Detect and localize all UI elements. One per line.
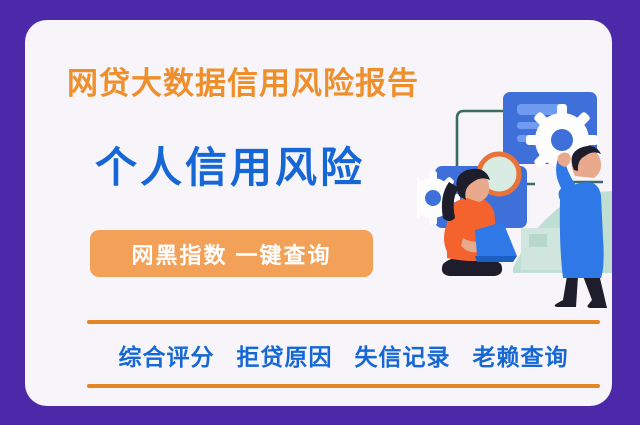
headline-text: 网贷大数据信用风险报告 — [67, 64, 419, 104]
query-cta-label: 网黑指数 一键查询 — [131, 238, 331, 270]
content-card: 网贷大数据信用风险报告 个人信用风险 网黑指数 一键查询 综合评分 拒贷原因 失… — [25, 20, 612, 406]
person-standing — [555, 146, 607, 308]
feature-item-0[interactable]: 综合评分 — [119, 338, 215, 372]
promo-banner: 网贷大数据信用风险报告 个人信用风险 网黑指数 一键查询 综合评分 拒贷原因 失… — [0, 0, 640, 425]
divider-top — [87, 320, 600, 324]
person-standing-leg-right — [583, 274, 607, 308]
query-cta-button[interactable]: 网黑指数 一键查询 — [90, 230, 373, 277]
feature-item-3[interactable]: 老赖查询 — [473, 338, 569, 372]
credit-report-illustration — [417, 78, 612, 310]
page-title: 个人信用风险 — [95, 142, 365, 194]
laptop-base — [475, 256, 517, 262]
divider-bottom — [87, 384, 600, 388]
person-standing-torso — [559, 182, 604, 278]
mint-block-accent — [529, 234, 547, 247]
feature-list: 综合评分 拒贷原因 失信记录 老赖查询 — [87, 330, 600, 380]
person-standing-leg-left — [555, 276, 578, 307]
feature-item-2[interactable]: 失信记录 — [355, 338, 451, 372]
feature-item-1[interactable]: 拒贷原因 — [237, 338, 333, 372]
